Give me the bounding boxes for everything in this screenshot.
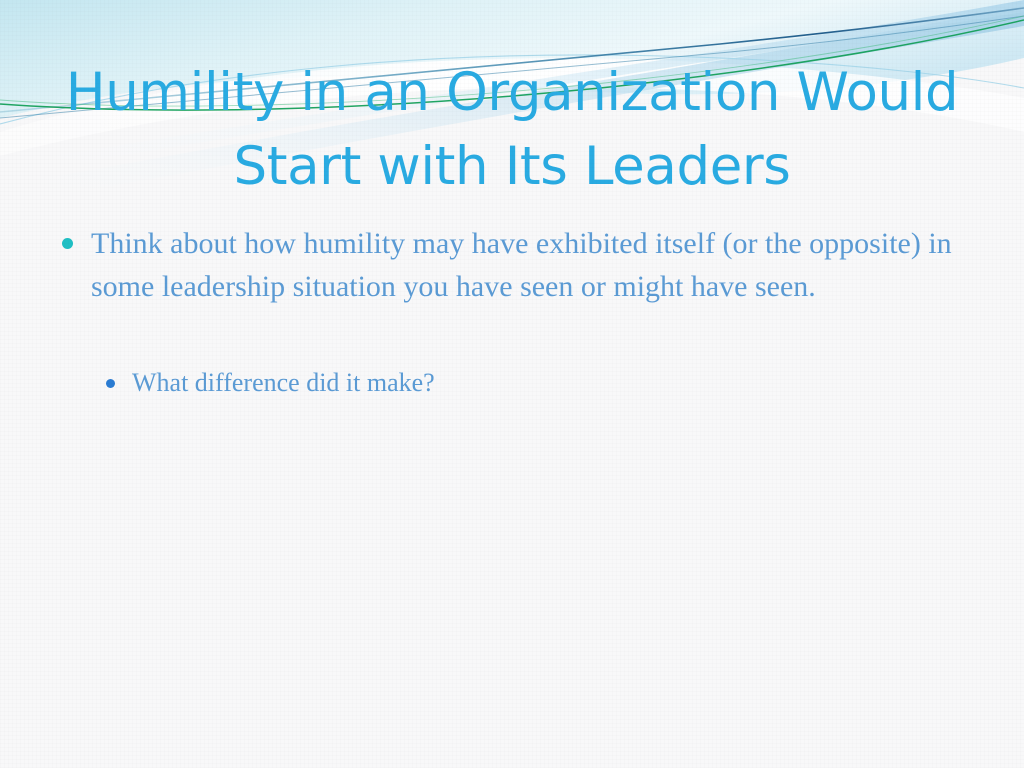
bullet-dot-icon (106, 379, 115, 388)
slide-title: Humility in an Organization Would Start … (0, 56, 1024, 204)
bullet-text: What difference did it make? (132, 364, 435, 402)
bullet-text: Think about how humility may have exhibi… (91, 222, 973, 308)
slide-body: Think about how humility may have exhibi… (0, 222, 1024, 402)
bullet-item-level-2: What difference did it make? (0, 364, 1024, 402)
slide-title-line-2: Start with Its Leaders (0, 130, 1024, 204)
slide-canvas: Humility in an Organization Would Start … (0, 0, 1024, 768)
bullet-item-level-1: Think about how humility may have exhibi… (0, 222, 1024, 308)
slide-title-line-1: Humility in an Organization Would (0, 56, 1024, 130)
bullet-dot-icon (62, 238, 73, 249)
